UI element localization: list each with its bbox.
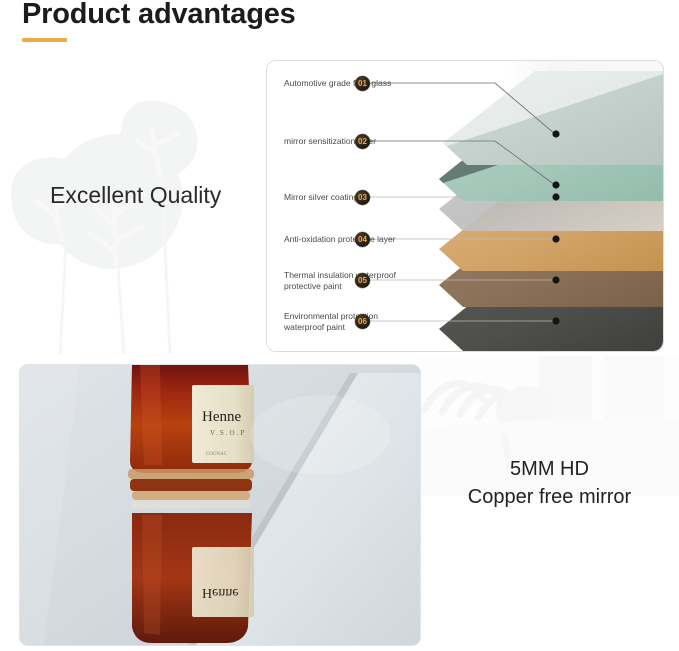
monstera-leaf-watermark-icon [0,66,240,356]
layer-badge-06: 06 [355,314,370,329]
title-underline-accent [22,38,67,42]
layer-badge-02: 02 [355,134,370,149]
page-title: Product advantages [22,0,296,31]
caption-line-2: Copper free mirror [420,484,679,512]
product-photo-panel: Henne V.S.O.P COGNAC Henne [19,364,421,646]
svg-text:V.S.O.P: V.S.O.P [210,429,246,437]
svg-text:COGNAC: COGNAC [206,452,228,457]
svg-text:Henne: Henne [202,409,241,425]
quality-heading: Excellent Quality [50,182,221,209]
product-caption: 5MM HD Copper free mirror [420,456,679,511]
layer-badge-05: 05 [355,273,370,288]
mirror-layer-diagram-panel: Automotive grade float glass 01 mirror s… [266,60,664,352]
layer-badge-01: 01 [355,76,370,91]
cognac-bottle-on-mirror-photo: Henne V.S.O.P COGNAC Henne [20,365,420,645]
bottom-section: Henne V.S.O.P COGNAC Henne 5MM HD Copper… [0,356,679,651]
caption-line-1: 5MM HD [420,456,679,484]
layer-label-03: Mirror silver coating [284,192,358,203]
layer-badge-03: 03 [355,190,370,205]
layer-label-04: Anti-oxidation protective layer [284,234,396,245]
layer-badge-04: 04 [355,232,370,247]
header: Product advantages [0,0,679,56]
layer-label-05: Thermal insulation waterproof protective… [284,270,396,291]
layer-label-01: Automotive grade float glass [284,78,391,89]
layer-stack-illustration [267,61,663,351]
svg-text:Henne: Henne [202,585,239,600]
top-section: Excellent Quality [0,56,679,356]
